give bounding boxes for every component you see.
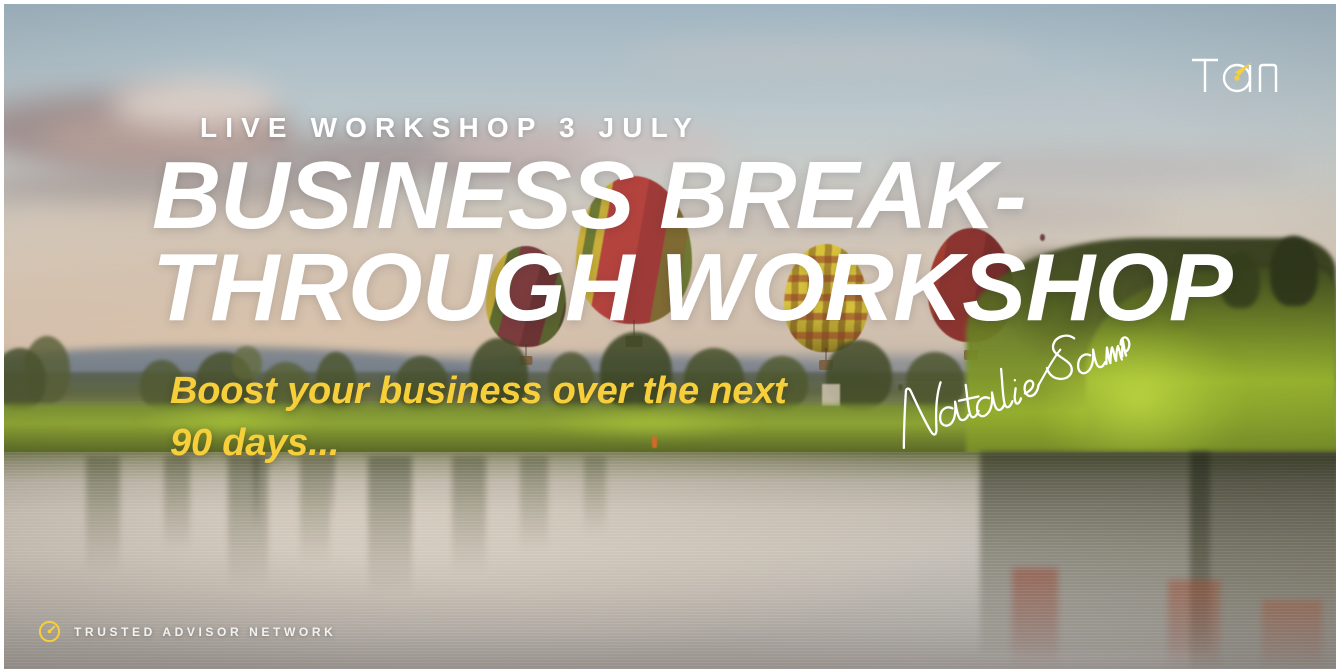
tan-logo[interactable] (1190, 48, 1286, 94)
page-title: BUSINESS BREAK- THROUGH WORKSHOP (152, 150, 1322, 334)
event-kicker: LIVE WORKSHOP 3 JULY (200, 114, 700, 142)
poster-canvas: LIVE WORKSHOP 3 JULY BUSINESS BREAK- THR… (0, 0, 1336, 669)
headline-line-2: THROUGH WORKSHOP (152, 242, 1322, 334)
subhead-line-1: Boost your business over the next (170, 370, 787, 412)
footer-brand-text: TRUSTED ADVISOR NETWORK (74, 625, 336, 639)
footer-brand[interactable]: TRUSTED ADVISOR NETWORK (38, 620, 336, 643)
subhead-line-2: 90 days... (170, 422, 339, 464)
hero-subhead: Boost your business over the next 90 day… (170, 366, 930, 469)
target-circle-icon (38, 620, 61, 643)
headline-line-1: BUSINESS BREAK- (152, 142, 1026, 249)
